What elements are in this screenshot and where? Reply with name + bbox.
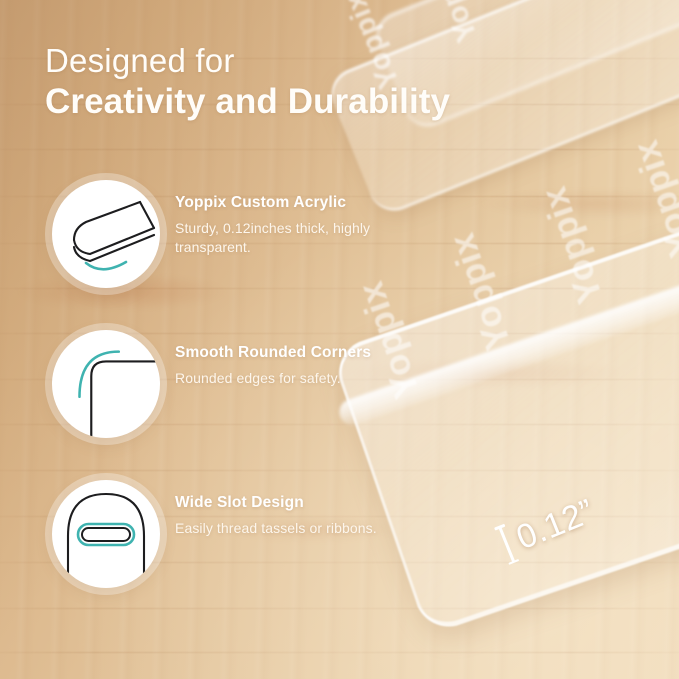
feature-icon-badge: [52, 330, 160, 438]
product-feature-graphic: Yoppix Yoppix Yoppix Yoppix Yoppix Yoppi…: [0, 0, 679, 679]
feature-icon-badge: [52, 480, 160, 588]
feature-icon-badge: [52, 180, 160, 288]
feature-title: Yoppix Custom Acrylic: [175, 194, 420, 212]
feature-item-acrylic: Yoppix Custom Acrylic Sturdy, 0.12inches…: [0, 168, 420, 318]
feature-item-rounded-corners: Smooth Rounded Corners Rounded edges for…: [0, 318, 420, 468]
feature-text-block: Yoppix Custom Acrylic Sturdy, 0.12inches…: [175, 194, 420, 258]
headline-line-2: Creativity and Durability: [45, 81, 450, 124]
feature-list: Yoppix Custom Acrylic Sturdy, 0.12inches…: [0, 168, 420, 618]
feature-text-block: Smooth Rounded Corners Rounded edges for…: [175, 344, 420, 388]
page-title: Designed for Creativity and Durability: [45, 40, 450, 124]
feature-title: Smooth Rounded Corners: [175, 344, 420, 362]
acrylic-panel-icon: [56, 184, 156, 284]
feature-item-wide-slot: Wide Slot Design Easily thread tassels o…: [0, 468, 420, 618]
feature-text-block: Wide Slot Design Easily thread tassels o…: [175, 494, 420, 538]
feature-description: Rounded edges for safety.: [175, 369, 420, 388]
headline-line-1: Designed for: [45, 40, 450, 81]
feature-description: Easily thread tassels or ribbons.: [175, 519, 420, 538]
rounded-corner-icon: [52, 330, 160, 438]
feature-title: Wide Slot Design: [175, 494, 420, 512]
feature-description: Sturdy, 0.12inches thick, highly transpa…: [175, 219, 420, 258]
wide-slot-icon: [52, 480, 160, 588]
